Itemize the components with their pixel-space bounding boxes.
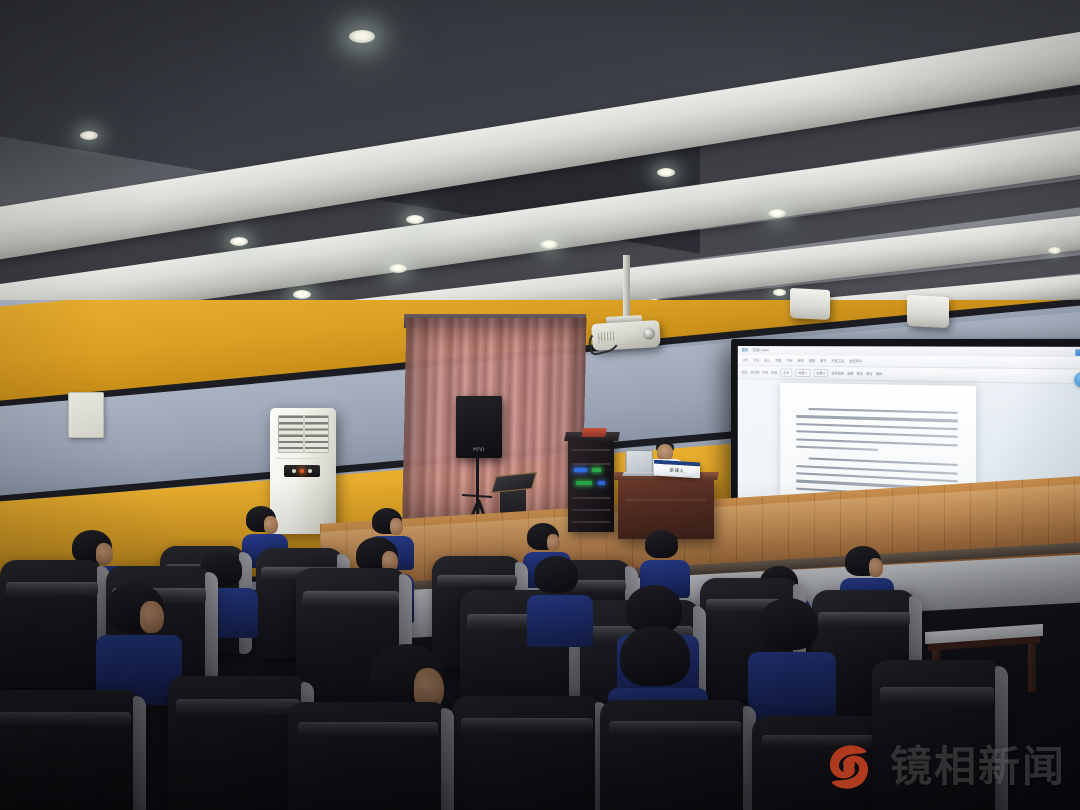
- person-ear: [140, 617, 148, 628]
- auditorium-seat[interactable]: [0, 690, 140, 810]
- wps-save-button[interactable]: [1075, 349, 1080, 356]
- watermark-text: 镜相新闻: [890, 746, 1066, 788]
- ac-led-icon: [308, 469, 312, 473]
- rack-slot: [572, 449, 610, 451]
- tripod-speaker: HiVi: [456, 396, 502, 458]
- toolbar-font[interactable]: 字体: [762, 370, 768, 374]
- person-uniform: [527, 595, 593, 647]
- ac-vent-divider: [303, 415, 305, 453]
- auditorium-seat[interactable]: [600, 700, 750, 810]
- ribbon-tab-view[interactable]: 视图: [809, 359, 815, 363]
- desk-panel-line: [626, 499, 706, 501]
- person-face: [869, 558, 883, 577]
- air-conditioner: [270, 408, 336, 534]
- wps-tab-document[interactable]: 文档1.docx: [752, 346, 769, 355]
- ac-seam: [276, 458, 330, 459]
- rack-red-device: [581, 428, 607, 437]
- person-hair: [645, 530, 678, 558]
- swirl-logo-icon: [818, 736, 880, 798]
- ceiling-downlight: [389, 264, 407, 273]
- ribbon-tab-page[interactable]: 页面: [775, 358, 781, 362]
- person-face: [264, 516, 278, 534]
- toolbar-comment[interactable]: 批注: [857, 371, 863, 375]
- ribbon-tab-file[interactable]: 文件: [743, 358, 749, 362]
- toolbar-protect[interactable]: 保护: [876, 372, 882, 376]
- toolbar-select[interactable]: 选择: [847, 371, 853, 375]
- style-heading-1[interactable]: 标题 1: [795, 369, 810, 377]
- ceiling-downlight: [349, 30, 375, 43]
- wall-speaker: [68, 392, 104, 438]
- ceiling: [0, 0, 1080, 330]
- document-text-line: [809, 408, 958, 414]
- person-hair: [620, 626, 690, 686]
- ceiling-downlight: [293, 290, 311, 299]
- rack-slot: [572, 463, 610, 465]
- wps-tab-home[interactable]: 首页: [742, 346, 749, 355]
- rack-led-icon: [598, 481, 605, 485]
- ceiling-speaker: [907, 295, 949, 328]
- laptop-keyboard[interactable]: [622, 472, 657, 476]
- ac-display-panel[interactable]: [284, 465, 320, 477]
- ribbon-tab-ref[interactable]: 引用: [786, 358, 792, 362]
- ribbon-tab-section[interactable]: 章节: [820, 359, 826, 363]
- ribbon-tab-insert[interactable]: 插入: [764, 358, 770, 362]
- wps-ribbon-toolbar: 粘贴 格式刷 字体 段落 正文 标题 1 标题 2 查找替换 选择 批注 修订 …: [738, 366, 1080, 385]
- person-hair: [534, 556, 578, 593]
- toolbar-paragraph[interactable]: 段落: [771, 370, 777, 374]
- rack-slot: [572, 497, 610, 499]
- speaker-brand-label: HiVi: [456, 447, 502, 453]
- ceiling-downlight: [540, 240, 558, 249]
- bench-leg: [1028, 640, 1036, 693]
- ceiling-speaker: [790, 288, 830, 320]
- ceiling-downlight: [657, 168, 675, 177]
- document-text-line: [796, 423, 957, 430]
- person-ear: [96, 554, 102, 562]
- rack-led-icon: [576, 481, 592, 485]
- document-text-line: [796, 430, 957, 438]
- name-placard: 讲课人: [654, 460, 700, 479]
- rack-slot: [572, 509, 610, 511]
- toolbar-find[interactable]: 查找替换: [831, 371, 844, 375]
- ceiling-downlight: [768, 209, 786, 218]
- ceiling-downlight: [406, 215, 424, 224]
- ceiling-downlight: [230, 237, 248, 246]
- person-face: [390, 518, 403, 535]
- auditorium-scene: 首页 文档1.docx 文件 开始 插入 页面 引用 审阅 视图 章节 开发工具…: [0, 0, 1080, 810]
- ac-led-icon: [300, 469, 304, 473]
- rack-led-icon: [574, 468, 587, 472]
- projector-mount-pole: [623, 255, 630, 319]
- auditorium-seat[interactable]: [452, 696, 602, 810]
- ribbon-tab-dev[interactable]: 开发工具: [831, 359, 844, 363]
- ac-led-icon: [292, 469, 296, 473]
- projector-lens-icon: [643, 327, 656, 340]
- cloud-sync-icon[interactable]: [1074, 372, 1080, 388]
- watermark: 镜相新闻: [818, 736, 1066, 798]
- rack-slot: [572, 521, 610, 523]
- ribbon-tab-member[interactable]: 会员专享: [849, 359, 862, 363]
- person-hair: [758, 598, 818, 650]
- toolbar-paste[interactable]: 粘贴: [742, 370, 748, 374]
- laptop-screen[interactable]: [626, 450, 653, 474]
- style-heading-2[interactable]: 标题 2: [813, 369, 828, 377]
- auditorium-seat[interactable]: [288, 702, 448, 810]
- document-text-line: [796, 445, 878, 451]
- ceiling-downlight: [1048, 247, 1061, 254]
- person-ear: [414, 688, 425, 702]
- toolbar-revision[interactable]: 修订: [866, 372, 872, 376]
- seat-shell: [133, 696, 146, 810]
- person-face: [547, 534, 560, 551]
- document-text-line: [796, 438, 957, 446]
- toolbar-format[interactable]: 格式刷: [750, 370, 759, 374]
- ceiling-downlight: [80, 131, 98, 140]
- rack-led-icon: [592, 468, 601, 472]
- auditorium-seat[interactable]: [168, 676, 308, 810]
- auditorium-seat[interactable]: [0, 560, 104, 688]
- av-equipment-rack: [568, 437, 614, 532]
- seat-shell: [441, 708, 454, 810]
- document-text-line: [796, 415, 957, 422]
- style-normal[interactable]: 正文: [780, 369, 792, 377]
- ribbon-tab-home[interactable]: 开始: [753, 358, 759, 362]
- ribbon-tab-review[interactable]: 审阅: [797, 358, 803, 362]
- ceiling-downlight: [773, 289, 786, 296]
